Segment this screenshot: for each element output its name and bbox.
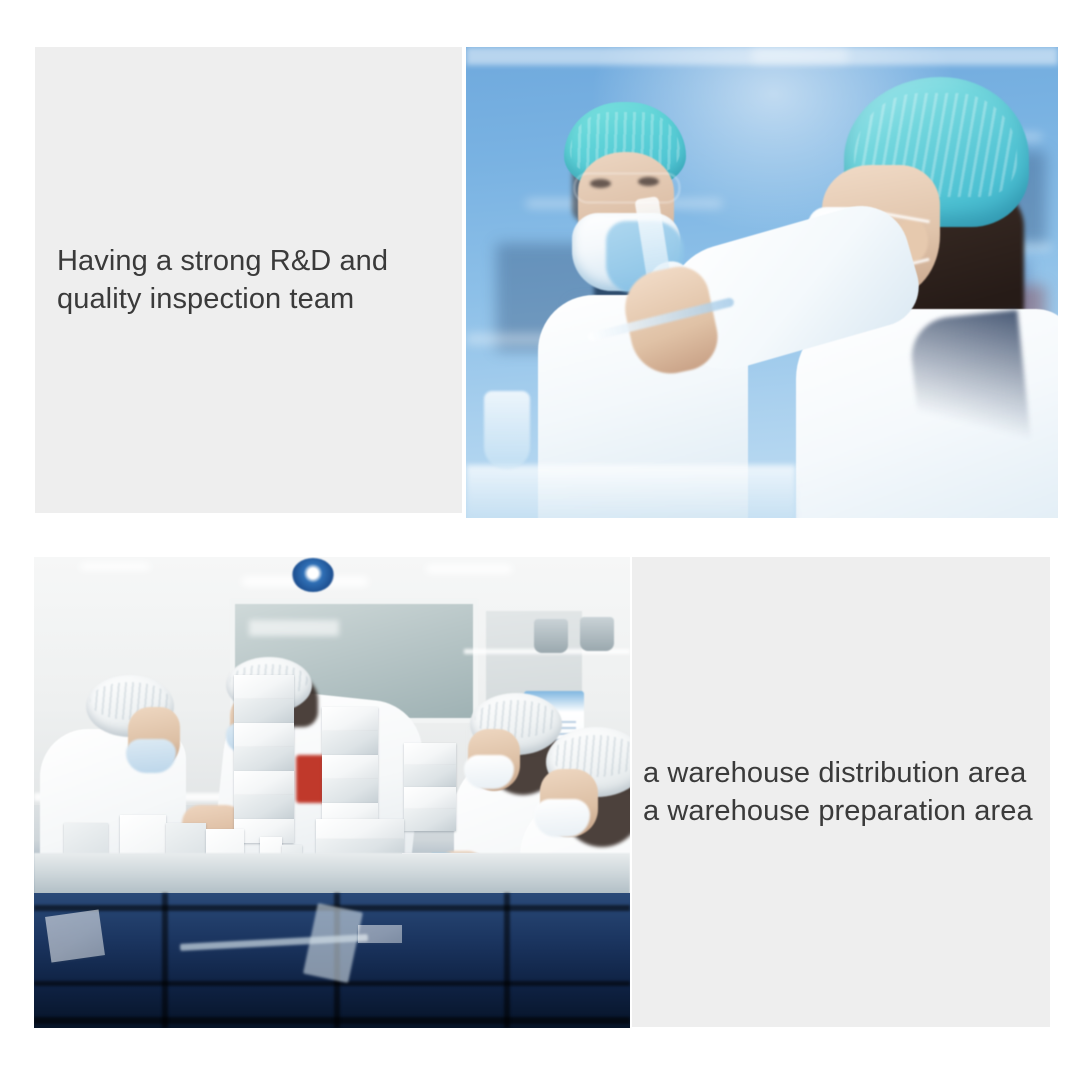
steel-pot-1 xyxy=(534,619,568,653)
ceiling-light-2 xyxy=(426,565,512,573)
warehouse-caption-line-1: a warehouse distribution area xyxy=(643,754,1050,792)
box-stack-item xyxy=(404,765,456,787)
table-frame-bar-bottom xyxy=(34,1017,630,1024)
box-stack-item xyxy=(404,809,456,831)
box-stack-item xyxy=(234,795,294,819)
ceiling-light-3 xyxy=(80,563,150,570)
box-stack-item xyxy=(404,743,456,765)
under-table-box xyxy=(358,925,402,943)
quality-inspection-lab-photo xyxy=(466,47,1058,518)
lab-bench-foreground xyxy=(466,465,796,518)
warehouse-section: a warehouse distribution area a warehous… xyxy=(0,540,1080,1080)
box-stack-item xyxy=(404,787,456,809)
technician-right-collar xyxy=(908,310,1038,518)
warehouse-caption-line-2: a warehouse preparation area xyxy=(643,792,1050,830)
worker-4-face-mask xyxy=(534,799,590,837)
table-frame-bar-mid xyxy=(34,981,630,986)
box-stack-item xyxy=(322,731,378,755)
under-table-box xyxy=(45,909,105,962)
table-frame-leg-1 xyxy=(162,893,168,1028)
box-stack-item xyxy=(234,771,294,795)
rd-quality-caption-line-1: Having a strong R&D and xyxy=(57,242,462,280)
steel-pot-2 xyxy=(580,617,614,651)
box-stack-item xyxy=(322,755,378,779)
lab-ceiling-light xyxy=(752,47,848,63)
box-stack-item xyxy=(234,699,294,723)
rd-quality-caption-text: Having a strong R&D and quality inspecti… xyxy=(35,242,462,318)
warehouse-caption-text: a warehouse distribution area a warehous… xyxy=(632,754,1050,830)
worker-3-face-mask xyxy=(464,755,514,789)
box-stack-item xyxy=(322,779,378,803)
warehouse-caption-panel: a warehouse distribution area a warehous… xyxy=(632,557,1050,1027)
box-stack-item xyxy=(322,707,378,731)
box-stack-item xyxy=(234,747,294,771)
ceiling-roundel-icon xyxy=(292,558,334,592)
warehouse-packing-photo xyxy=(34,557,630,1028)
worker-1-face-mask xyxy=(126,739,176,773)
rd-quality-caption-line-2: quality inspection team xyxy=(57,280,462,318)
box-stack-item xyxy=(234,723,294,747)
rd-quality-section: Having a strong R&D and quality inspecti… xyxy=(0,0,1080,540)
technician-left-safety-glasses-icon xyxy=(574,173,680,203)
rd-quality-caption-panel: Having a strong R&D and quality inspecti… xyxy=(35,47,462,513)
box-flat-item xyxy=(316,819,404,839)
glass-flask xyxy=(484,391,530,469)
table-frame-leg-3 xyxy=(504,893,510,1028)
box-stack-item xyxy=(234,675,294,699)
